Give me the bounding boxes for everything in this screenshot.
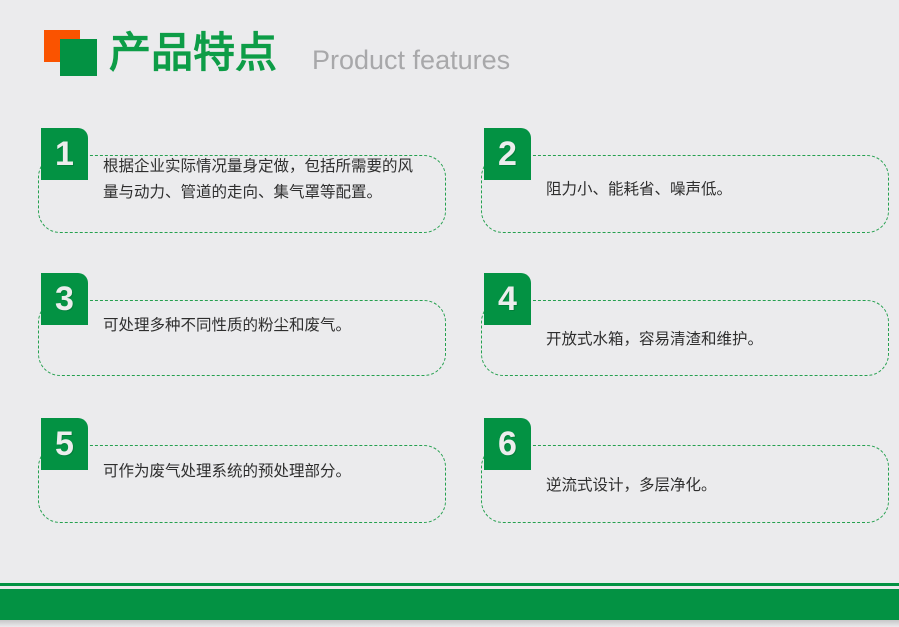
feature-card-6-text: 逆流式设计，多层净化。 bbox=[546, 473, 871, 499]
footer-divider-rule bbox=[0, 583, 899, 586]
feature-card-5-text: 可作为废气处理系统的预处理部分。 bbox=[103, 459, 428, 485]
footer-bar bbox=[0, 589, 899, 620]
feature-card-4-text: 开放式水箱，容易清渣和维护。 bbox=[546, 327, 871, 353]
feature-card-5-number-badge: 5 bbox=[41, 418, 88, 470]
feature-card-2-text: 阻力小、能耗省、噪声低。 bbox=[546, 177, 871, 203]
feature-card-1-text: 根据企业实际情况量身定做，包括所需要的风量与动力、管道的走向、集气罩等配置。 bbox=[103, 154, 428, 206]
feature-card-4-number-badge: 4 bbox=[484, 273, 531, 325]
feature-grid: 1 根据企业实际情况量身定做，包括所需要的风量与动力、管道的走向、集气罩等配置。… bbox=[0, 0, 899, 570]
feature-card-1-number-badge: 1 bbox=[41, 128, 88, 180]
footer-shadow bbox=[0, 620, 899, 627]
feature-card-2-number-badge: 2 bbox=[484, 128, 531, 180]
feature-card-6-number-badge: 6 bbox=[484, 418, 531, 470]
feature-card-3-number-badge: 3 bbox=[41, 273, 88, 325]
feature-card-3-text: 可处理多种不同性质的粉尘和废气。 bbox=[103, 313, 428, 339]
